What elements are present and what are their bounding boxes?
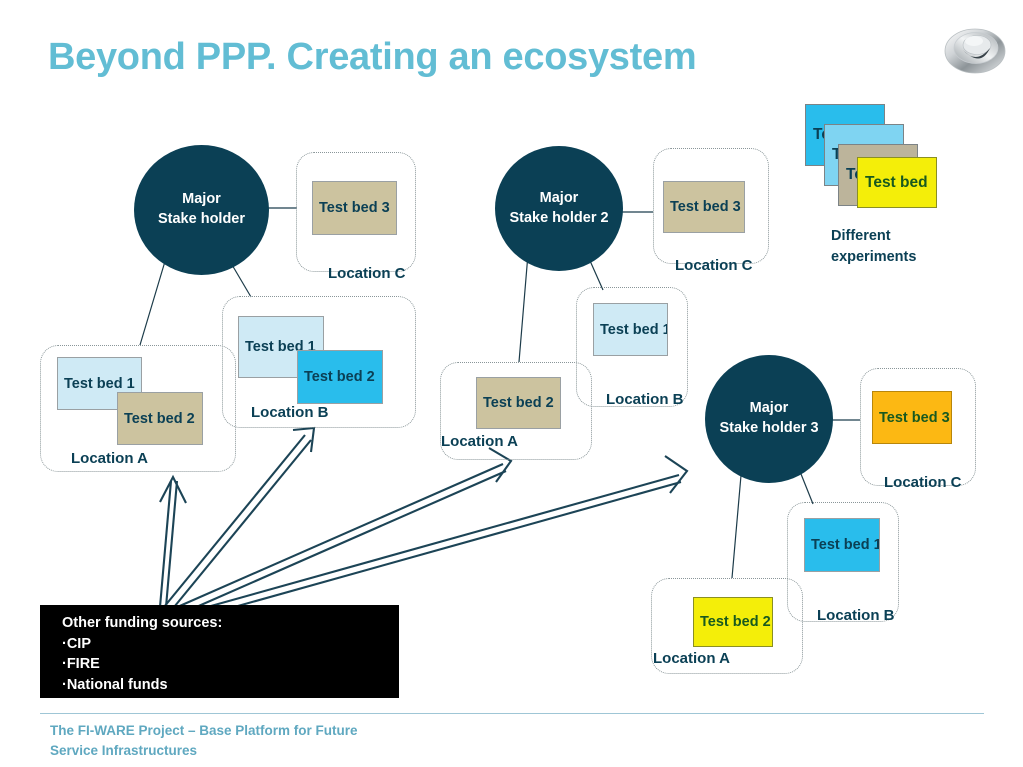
- testbed-card[interactable]: Test bed 2: [117, 392, 203, 445]
- testbed-card[interactable]: Test bed 2: [693, 597, 773, 647]
- location-label: Location B: [606, 391, 684, 408]
- connector-c3-locA: [732, 464, 742, 578]
- connector-c2-locA: [519, 254, 528, 362]
- funding-item: ·FIRE: [62, 654, 399, 675]
- slide-canvas: Beyond PPP. Creating an ecosystem: [0, 0, 1023, 767]
- funding-arrow-to-location-a2: [166, 448, 511, 619]
- page-title: Beyond PPP. Creating an ecosystem: [48, 36, 696, 79]
- funding-item: ·CIP: [62, 634, 399, 655]
- testbed-card[interactable]: Test bed 3: [663, 181, 745, 233]
- location-label: Location A: [653, 650, 730, 667]
- funding-arrow-to-location-a3: [168, 456, 687, 625]
- swirl-logo-icon: [941, 21, 1009, 79]
- funding-title: Other funding sources:: [62, 613, 399, 634]
- testbed-card[interactable]: Test bed 1: [804, 518, 880, 572]
- testbed-card[interactable]: Test bed 3: [872, 391, 952, 444]
- location-label: Location A: [71, 450, 148, 467]
- funding-item: ·National funds: [62, 675, 399, 696]
- stakeholder-circle-2[interactable]: Major Stake holder 2: [495, 146, 623, 271]
- location-label: Location A: [441, 433, 518, 450]
- experiments-caption: Different experiments: [831, 226, 916, 267]
- connector-c1-locA: [140, 258, 166, 345]
- location-label: Location B: [817, 607, 895, 624]
- funding-arrow-group: [160, 428, 687, 625]
- testbed-card[interactable]: Test bed 1: [593, 303, 668, 356]
- footer-divider: [40, 713, 984, 714]
- funding-sources-box[interactable]: Other funding sources: ·CIP ·FIRE ·Natio…: [40, 605, 399, 698]
- location-label: Location B: [251, 404, 329, 421]
- testbed-card[interactable]: Test bed 2: [297, 350, 383, 404]
- experiment-card[interactable]: Test bed: [857, 157, 937, 208]
- footer-text: The FI-WARE Project – Base Platform for …: [50, 721, 358, 760]
- location-label: Location C: [675, 257, 753, 274]
- location-label: Location C: [884, 474, 962, 491]
- testbed-card[interactable]: Test bed 2: [476, 377, 561, 429]
- testbed-card[interactable]: Test bed 3: [312, 181, 397, 235]
- funding-arrow-to-location-a1: [160, 477, 186, 607]
- stakeholder-circle-3[interactable]: Major Stake holder 3: [705, 355, 833, 483]
- stakeholder-circle-1[interactable]: Major Stake holder: [134, 145, 269, 275]
- location-label: Location C: [328, 265, 406, 282]
